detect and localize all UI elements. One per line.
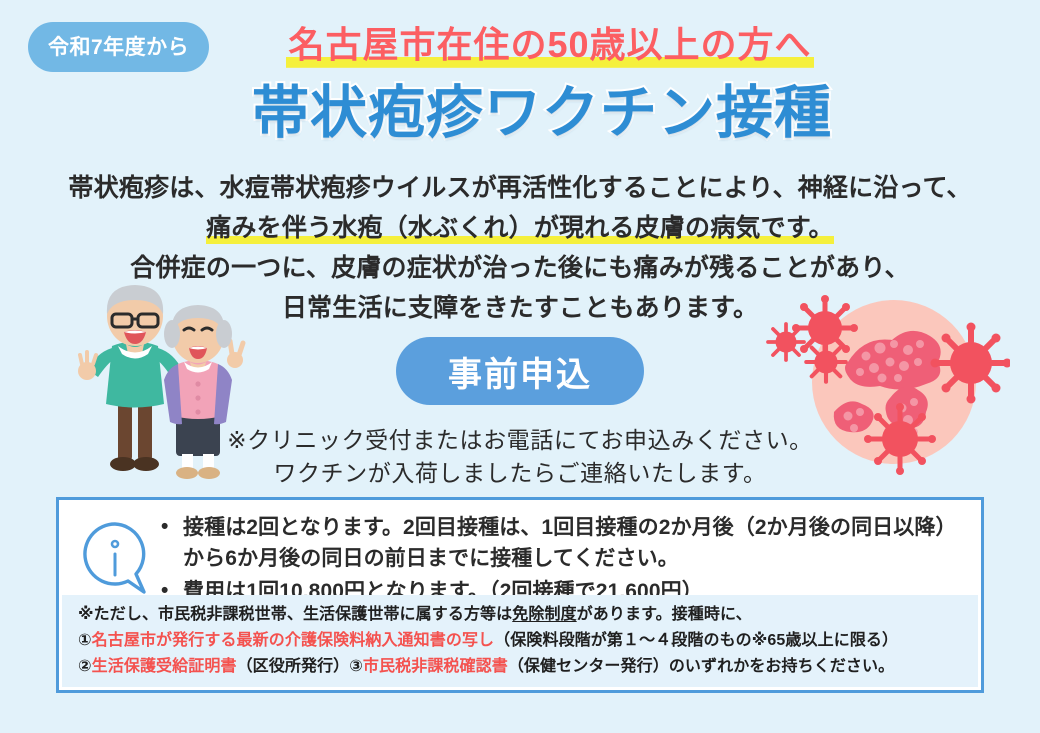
description-line-2: 痛みを伴う水疱（水ぶくれ）が現れる皮膚の病気です。 (206, 214, 834, 244)
document-name-insurance-notice: 名古屋市が発行する最新の介護保険料納入通知書の写し (92, 632, 495, 649)
description-line-4: 日常生活に支障をきたすこともあります。 (0, 288, 1040, 328)
application-note-line-2: ワクチンが入荷しましたらご連絡いたします。 (0, 457, 1040, 490)
fineprint-2-note: （保険料段階が第１～４段階のもの※65歳以上に限る） (494, 632, 898, 649)
bullet-schedule-text: 接種は2回となります。2回目接種は、1回目接種の2か月後（2か月後の同日以降）か… (183, 516, 957, 570)
fineprint-1b: があります。接種時に、 (577, 606, 752, 623)
fineprint-exemption-term: 免除制度 (512, 606, 576, 623)
info-speech-bubble-icon (77, 518, 153, 598)
description-line-2-wrap: 痛みを伴う水疱（水ぶくれ）が現れる皮膚の病気です。 (0, 208, 1040, 248)
advance-application-button[interactable]: 事前申込 (396, 337, 644, 405)
description-line-1: 帯状疱疹は、水痘帯状疱疹ウイルスが再活性化することにより、神経に沿って、 (0, 168, 1040, 208)
fineprint-line-1: ※ただし、市民税非課税世帯、生活保護世帯に属する方等は免除制度があります。接種時… (78, 603, 964, 626)
bullet-item-schedule: 接種は2回となります。2回目接種は、1回目接種の2か月後（2か月後の同日以降）か… (183, 512, 965, 574)
fineprint-3-note-a: （区役所発行） (237, 658, 350, 675)
document-name-welfare-cert: 生活保護受給証明書 (92, 658, 237, 675)
application-note-line-1: ※クリニック受付またはお電話にてお申込みください。 (0, 424, 1040, 457)
description-text: 帯状疱疹は、水痘帯状疱疹ウイルスが再活性化することにより、神経に沿って、 痛みを… (0, 168, 1040, 328)
document-name-tax-exempt-cert: 市民税非課税確認書 (363, 658, 508, 675)
fineprint-num-3: ③ (349, 658, 363, 675)
fineprint-num-2: ② (78, 658, 92, 675)
poster-subtitle: 名古屋市在住の50歳以上の方へ (286, 26, 813, 68)
poster-root: 令和7年度から 名古屋市在住の50歳以上の方へ 帯状疱疹ワクチン接種 帯状疱疹は… (0, 0, 1040, 733)
application-note: ※クリニック受付またはお電話にてお申込みください。 ワクチンが入荷しましたらご連… (0, 424, 1040, 490)
main-title-container: 帯状疱疹ワクチン接種 (0, 83, 1040, 145)
exemption-fineprint: ※ただし、市民税非課税世帯、生活保護世帯に属する方等は免除制度があります。接種時… (62, 595, 978, 687)
fineprint-1a: ※ただし、市民税非課税世帯、生活保護世帯に属する方等は (78, 606, 512, 623)
subtitle-container: 名古屋市在住の50歳以上の方へ (0, 26, 1040, 68)
fineprint-line-3: ②生活保護受給証明書（区役所発行）③市民税非課税確認書（保健センター発行）のいず… (78, 655, 964, 678)
page-title: 帯状疱疹ワクチン接種 (252, 83, 832, 145)
fineprint-3-note-b: （保健センター発行）のいずれかをお持ちください。 (508, 658, 894, 675)
info-box: 接種は2回となります。2回目接種は、1回目接種の2か月後（2か月後の同日以降）か… (56, 497, 984, 693)
info-box-content: 接種は2回となります。2回目接種は、1回目接種の2か月後（2か月後の同日以降）か… (59, 500, 981, 609)
description-line-3: 合併症の一つに、皮膚の症状が治った後にも痛みが残ることがあり、 (0, 248, 1040, 288)
fineprint-line-2: ①名古屋市が発行する最新の介護保険料納入通知書の写し（保険料段階が第１～４段階の… (78, 629, 964, 652)
fineprint-num-1: ① (78, 632, 92, 649)
